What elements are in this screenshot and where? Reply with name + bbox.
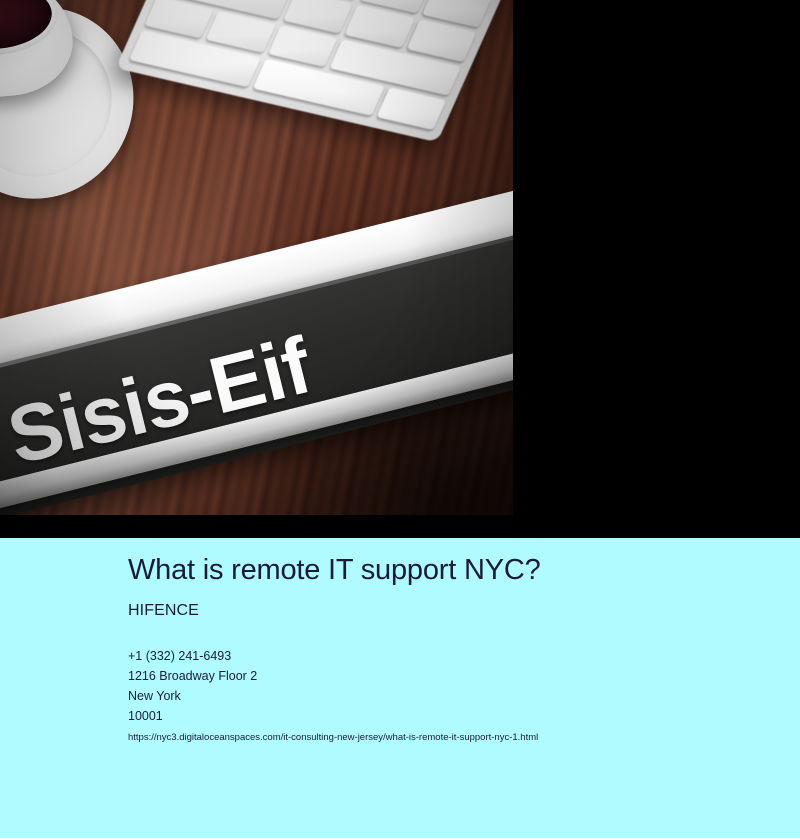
contact-details: +1 (332) 241-6493 1216 Broadway Floor 2 … [128,646,257,726]
contact-phone: +1 (332) 241-6493 [128,646,257,666]
content-section: What is remote IT support NYC? HIFENCE +… [0,538,800,840]
keyboard-key [376,88,446,131]
brand-name: HIFENCE [128,602,199,620]
hero-photo: Sisis-Eif [0,0,513,515]
source-url-link[interactable]: https://nyc3.digitaloceanspaces.com/it-c… [128,731,538,744]
contact-postal-code: 10001 [128,706,257,726]
page-title: What is remote IT support NYC? [128,555,541,587]
contact-city: New York [128,686,257,706]
hero-banner: Sisis-Eif [0,0,800,538]
contact-street-address: 1216 Broadway Floor 2 [128,666,257,686]
